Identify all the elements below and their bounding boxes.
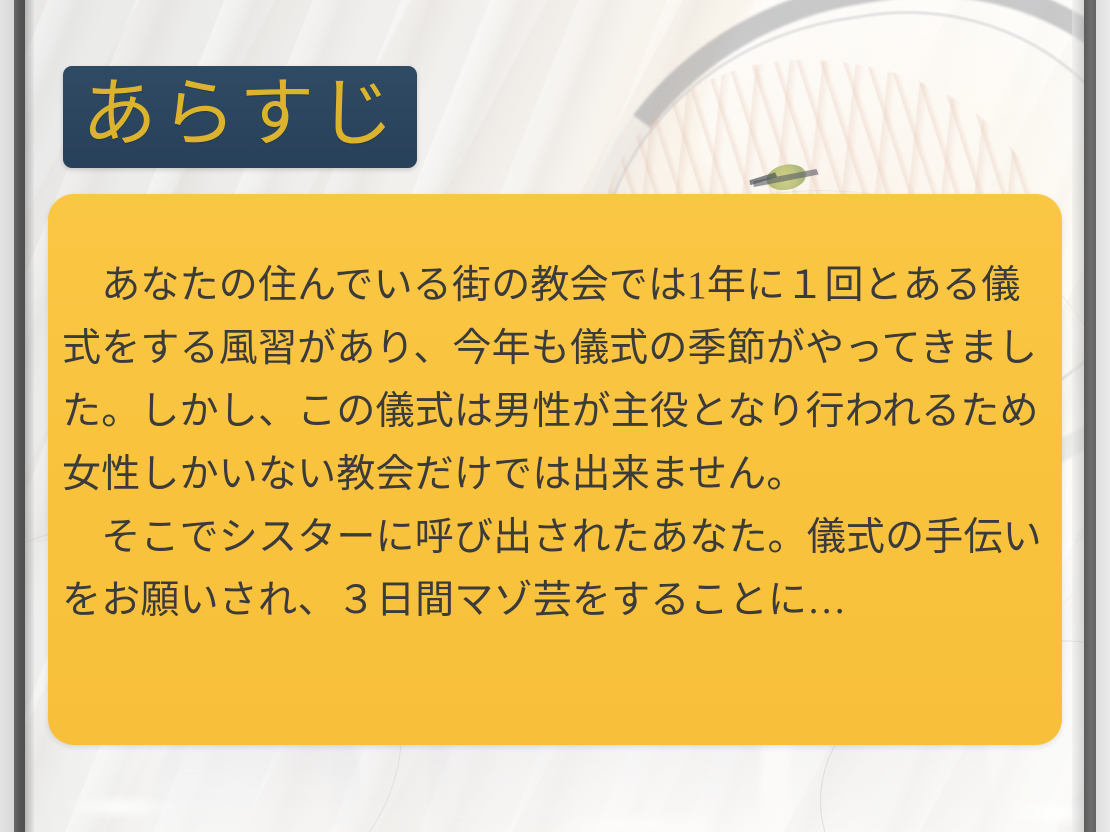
synopsis-line: あなたの住んでいる街の教会では1年に１回とある儀 bbox=[62, 254, 1048, 317]
synopsis-line: をお願いされ、３日間マゾ芸をすることに… bbox=[62, 569, 1048, 632]
synopsis-slide: あらすじ あなたの住んでいる街の教会では1年に１回とある儀 式をする風習があり、… bbox=[0, 0, 1110, 832]
left-edge-soft-band bbox=[25, 0, 34, 832]
right-edge-pale-band bbox=[1096, 0, 1110, 832]
right-edge-soft-band bbox=[1072, 0, 1084, 832]
synopsis-line: た。しかし、この儀式は男性が主役となり行われるため bbox=[62, 380, 1048, 443]
left-edge-pale-band bbox=[0, 0, 14, 832]
highlight bbox=[560, 816, 720, 832]
synopsis-card: あなたの住んでいる街の教会では1年に１回とある儀 式をする風習があり、今年も儀式… bbox=[48, 194, 1062, 745]
synopsis-text-block: あなたの住んでいる街の教会では1年に１回とある儀 式をする風習があり、今年も儀式… bbox=[48, 254, 1062, 632]
synopsis-line: 式をする風習があり、今年も儀式の季節がやってきまし bbox=[62, 317, 1048, 380]
left-edge-dark-bar bbox=[14, 0, 25, 832]
page-title: あらすじ bbox=[82, 77, 399, 158]
right-edge-dark-bar bbox=[1084, 0, 1096, 832]
section-title-badge: あらすじ bbox=[63, 66, 417, 168]
synopsis-line: そこでシスターに呼び出されたあなた。儀式の手伝い bbox=[62, 506, 1048, 569]
synopsis-line: 女性しかいない教会だけでは出来ません。 bbox=[62, 443, 1048, 506]
